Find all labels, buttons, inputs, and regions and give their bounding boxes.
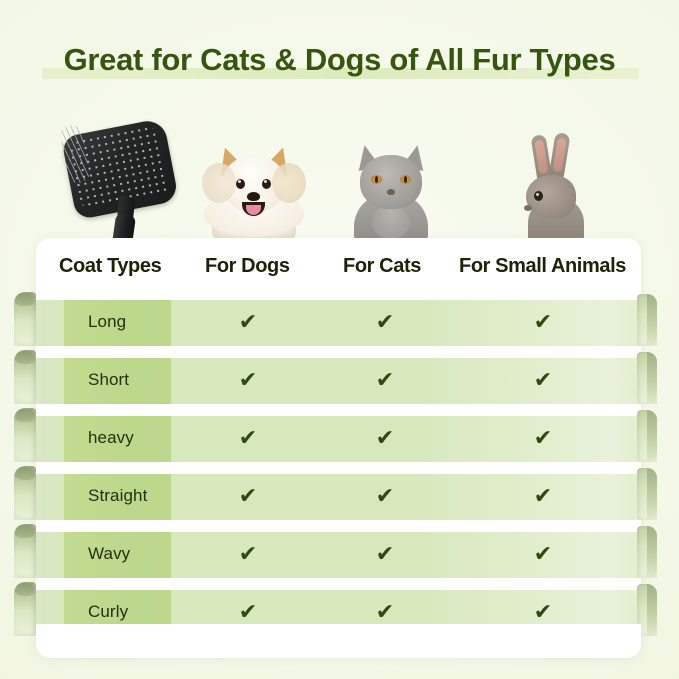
check-icon-for-small-animals: ✔ [531, 367, 555, 395]
cat-chest [372, 205, 410, 239]
ribbon-fold-right-icon [637, 410, 657, 462]
rabbit-ear-right [548, 132, 570, 180]
dog-photo-image [196, 135, 312, 243]
column-header-coat-types: Coat Types [59, 255, 161, 278]
row-label-cell: heavy [64, 416, 171, 462]
column-header-for-small-animals: For Small Animals [459, 255, 626, 278]
ribbon-fold-right-icon [637, 294, 657, 346]
dog-eye-right [262, 179, 271, 189]
row-label-cell: Short [64, 358, 171, 404]
check-icon-for-small-animals: ✔ [531, 599, 555, 627]
rabbit-eye [534, 191, 543, 201]
row-label: heavy [88, 428, 134, 448]
check-icon-for-dogs: ✔ [236, 367, 260, 395]
page-title-block: Great for Cats & Dogs of All Fur Types [0, 42, 679, 78]
ribbon-fold-left-icon [14, 292, 36, 346]
check-icon-for-cats: ✔ [373, 599, 397, 627]
ribbon-fold-left-icon [14, 408, 36, 462]
check-icon-for-cats: ✔ [373, 309, 397, 337]
ribbon-fold-right-icon [637, 468, 657, 520]
page-title: Great for Cats & Dogs of All Fur Types [64, 42, 616, 78]
media-strip [0, 118, 679, 243]
check-icon-for-cats: ✔ [373, 541, 397, 569]
check-icon-for-small-animals: ✔ [531, 425, 555, 453]
row-label: Wavy [88, 544, 130, 564]
check-icon-for-cats: ✔ [373, 367, 397, 395]
dog-eye-left [236, 179, 245, 189]
column-header-for-dogs: For Dogs [205, 255, 290, 278]
check-icon-for-dogs: ✔ [236, 599, 260, 627]
ribbon-fold-right-icon [637, 352, 657, 404]
check-icon-for-dogs: ✔ [236, 309, 260, 337]
check-icon-for-small-animals: ✔ [531, 541, 555, 569]
coat-type-comparison-table: Coat Types For Dogs For Cats For Small A… [0, 238, 679, 658]
dog-fluff-right [272, 163, 306, 203]
row-label: Short [88, 370, 129, 390]
table-row: Wavy ✔ ✔ ✔ [14, 532, 657, 578]
pet-grooming-brush-image [60, 123, 210, 243]
ribbon-fold-left-icon [14, 466, 36, 520]
promo-infographic: Great for Cats & Dogs of All Fur Types [0, 0, 679, 679]
dog-nose [247, 192, 260, 201]
rabbit-nose [524, 205, 532, 211]
table-row: heavy ✔ ✔ ✔ [14, 416, 657, 462]
check-icon-for-small-animals: ✔ [531, 483, 555, 511]
rabbit-ear-inner-left [534, 140, 548, 175]
ribbon-fold-left-icon [14, 582, 36, 636]
row-label-cell: Wavy [64, 532, 171, 578]
cat-eye-left [371, 175, 382, 184]
ribbon-fold-right-icon [637, 526, 657, 578]
rabbit-photo-image [508, 131, 612, 243]
ribbon-fold-left-icon [14, 350, 36, 404]
cat-nose [387, 189, 395, 195]
row-label: Straight [88, 486, 147, 506]
check-icon-for-dogs: ✔ [236, 425, 260, 453]
table-row: Long ✔ ✔ ✔ [14, 300, 657, 346]
row-label-cell: Long [64, 300, 171, 346]
column-header-for-cats: For Cats [343, 255, 421, 278]
cat-head [360, 155, 422, 209]
check-icon-for-cats: ✔ [373, 483, 397, 511]
rabbit-ear-inner-right [553, 138, 567, 173]
check-icon-for-dogs: ✔ [236, 541, 260, 569]
table-row: Short ✔ ✔ ✔ [14, 358, 657, 404]
row-label: Curly [88, 602, 128, 622]
row-label: Long [88, 312, 126, 332]
dog-tongue [246, 205, 261, 215]
check-icon-for-cats: ✔ [373, 425, 397, 453]
check-icon-for-dogs: ✔ [236, 483, 260, 511]
dog-fluff-left [202, 163, 236, 203]
cat-photo-image [338, 131, 444, 243]
ribbon-fold-left-icon [14, 524, 36, 578]
table-row: Straight ✔ ✔ ✔ [14, 474, 657, 520]
cat-eye-right [400, 175, 411, 184]
table-header-row: Coat Types For Dogs For Cats For Small A… [36, 238, 641, 296]
table-card-footer [36, 624, 641, 658]
check-icon-for-small-animals: ✔ [531, 309, 555, 337]
row-label-cell: Straight [64, 474, 171, 520]
